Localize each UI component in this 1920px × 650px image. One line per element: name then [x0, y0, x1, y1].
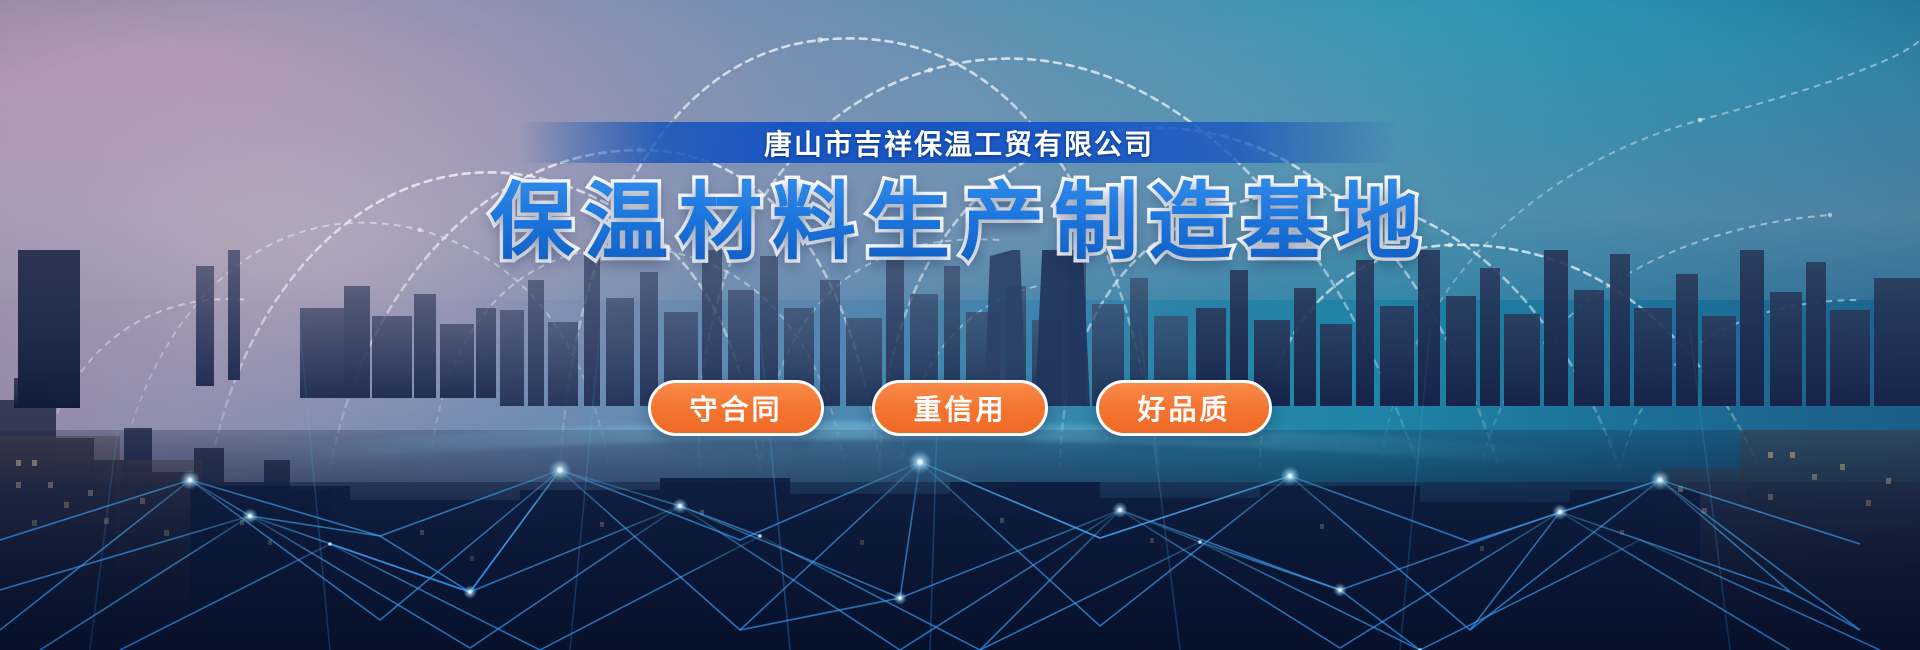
badge-zhong-xin-yong[interactable]: 重信用	[872, 380, 1048, 436]
badge-shou-he-tong[interactable]: 守合同	[648, 380, 824, 436]
company-name: 唐山市吉祥保温工贸有限公司	[764, 123, 1154, 163]
badge-row: 守合同 重信用 好品质	[0, 380, 1920, 436]
hero-banner: 唐山市吉祥保温工贸有限公司 保温材料生产制造基地 保温材料生产制造基地 守合同 …	[0, 0, 1920, 650]
headline-outline: 保温材料生产制造基地	[0, 178, 1920, 266]
company-name-band: 唐山市吉祥保温工贸有限公司	[519, 122, 1399, 163]
banner-content: 唐山市吉祥保温工贸有限公司 保温材料生产制造基地 保温材料生产制造基地 守合同 …	[0, 0, 1920, 650]
badge-hao-pin-zhi[interactable]: 好品质	[1096, 380, 1272, 436]
